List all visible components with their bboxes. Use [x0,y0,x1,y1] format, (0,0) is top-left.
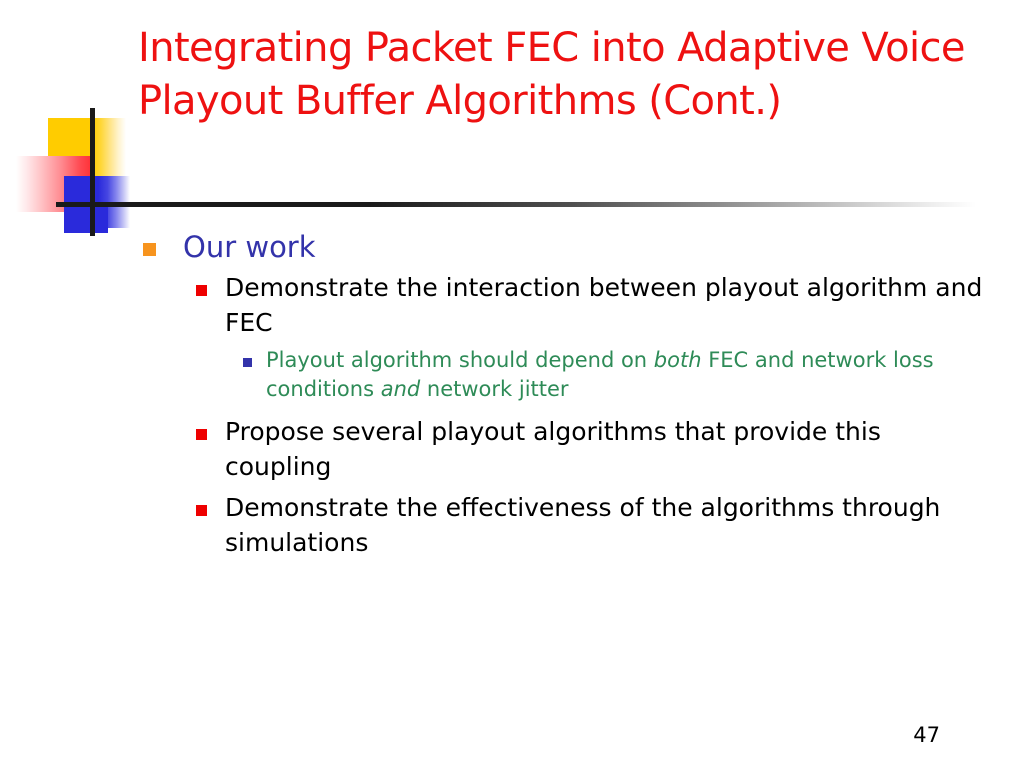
deco-vertical-line [90,108,95,236]
page-number: 47 [913,722,940,748]
bullet-level2-label: Demonstrate the interaction between play… [225,270,990,340]
bullet-level2-label: Propose several playout algorithms that … [225,414,990,484]
bullet-square-orange-icon [143,243,156,256]
bullet-level3: Playout algorithm should depend on both … [243,346,1024,404]
title-divider-line [56,202,976,207]
bullet-level1: Our work [143,228,1024,266]
bullet-square-red-icon [196,505,207,516]
emphasis-text: both [654,348,702,372]
bullet-level1-label: Our work [183,228,943,266]
bullet-level2: Demonstrate the effectiveness of the alg… [196,490,1024,560]
slide: Integrating Packet FEC into Adaptive Voi… [0,0,1024,768]
bullet-square-blue-icon [243,358,252,367]
bullet-level2: Propose several playout algorithms that … [196,414,1024,484]
slide-title: Integrating Packet FEC into Adaptive Voi… [138,22,1008,128]
plain-text: network jitter [420,377,568,401]
bullet-level3-label: Playout algorithm should depend on both … [266,346,966,404]
emphasis-text: and [381,377,421,401]
bullet-level2: Demonstrate the interaction between play… [196,270,1024,340]
plain-text: Playout algorithm should depend on [266,348,654,372]
bullet-level2-label: Demonstrate the effectiveness of the alg… [225,490,990,560]
bullet-square-red-icon [196,285,207,296]
slide-body: Our work Demonstrate the interaction bet… [0,228,1024,566]
bullet-square-red-icon [196,429,207,440]
